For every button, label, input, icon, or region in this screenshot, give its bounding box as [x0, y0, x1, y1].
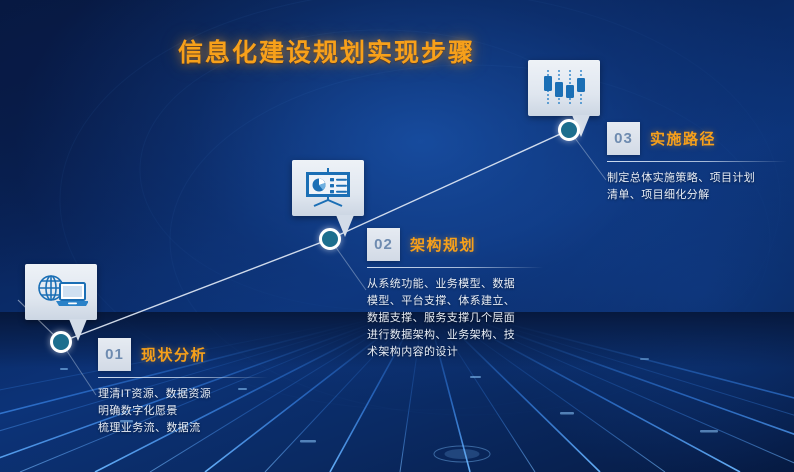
candlestick-chart-icon: [541, 68, 587, 106]
step-1-line-1: 理清IT资源、数据资源: [98, 386, 268, 403]
step-2-number: 02: [367, 228, 400, 261]
step-1-divider: [98, 377, 268, 378]
step-2-line-4: 进行数据架构、业务架构、技: [367, 327, 543, 344]
step-2-header: 02 架构规划: [367, 228, 543, 261]
step-2-node[interactable]: [319, 228, 341, 250]
slide-canvas: 信息化建设规划实现步骤: [0, 0, 794, 472]
step-2-divider: [367, 267, 543, 268]
step-3-divider: [607, 161, 787, 162]
step-2-body: 从系统功能、业务模型、数据 模型、平台支撑、体系建立、 数据支撑、服务支撑几个层…: [367, 276, 543, 361]
step-3-header: 03 实施路径: [607, 122, 787, 155]
step-1-line-3: 梳理业务流、数据流: [98, 420, 268, 437]
step-1-node[interactable]: [50, 331, 72, 353]
bubble-tail-icon: [69, 319, 87, 341]
step-1-title: 现状分析: [141, 344, 207, 365]
step-3: 03 实施路径 制定总体实施策略、项目计划 清单、项目细化分解: [607, 122, 787, 204]
step-3-icon-bubble: [528, 60, 600, 116]
step-1-header: 01 现状分析: [98, 338, 268, 371]
step-3-number: 03: [607, 122, 640, 155]
step-1-body: 理清IT资源、数据资源 明确数字化愿景 梳理业务流、数据流: [98, 386, 268, 437]
step-3-title: 实施路径: [650, 128, 716, 149]
step-3-node[interactable]: [558, 119, 580, 141]
step-1-number: 01: [98, 338, 131, 371]
page-title: 信息化建设规划实现步骤: [178, 33, 475, 69]
presentation-chart-icon: [303, 167, 353, 207]
step-2: 02 架构规划 从系统功能、业务模型、数据 模型、平台支撑、体系建立、 数据支撑…: [367, 228, 543, 361]
step-2-line-1: 从系统功能、业务模型、数据: [367, 276, 543, 293]
step-2-line-5: 术架构内容的设计: [367, 344, 543, 361]
step-3-body: 制定总体实施策略、项目计划 清单、项目细化分解: [607, 170, 787, 204]
step-3-line-1: 制定总体实施策略、项目计划: [607, 170, 787, 187]
step-2-line-3: 数据支撑、服务支撑几个层面: [367, 310, 543, 327]
step-1-icon-bubble: [25, 264, 97, 320]
step-2-icon-bubble: [292, 160, 364, 216]
step-3-line-2: 清单、项目细化分解: [607, 187, 787, 204]
step-2-line-2: 模型、平台支撑、体系建立、: [367, 293, 543, 310]
globe-laptop-icon: [34, 273, 88, 309]
step-2-title: 架构规划: [410, 234, 476, 255]
step-1: 01 现状分析 理清IT资源、数据资源 明确数字化愿景 梳理业务流、数据流: [98, 338, 268, 437]
step-1-line-2: 明确数字化愿景: [98, 403, 268, 420]
